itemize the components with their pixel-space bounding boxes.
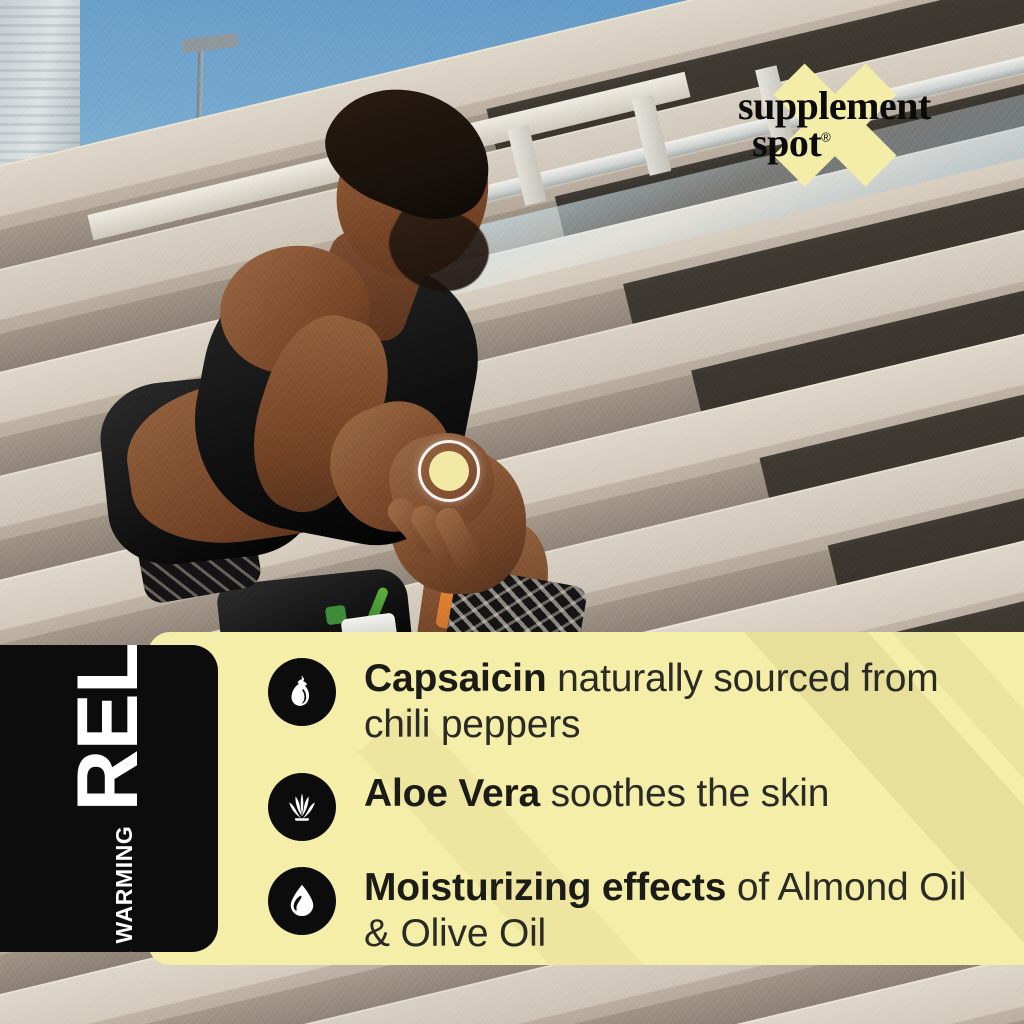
feature-bullet-list: Capsaicin naturally sourced from chili p… xyxy=(268,656,984,957)
callout-kicker: COOLING & WARMING xyxy=(111,825,146,952)
knee-pain-indicator xyxy=(418,440,480,502)
bullet-text: Moisturizing effects of Almond Oil & Oli… xyxy=(364,865,984,956)
oil-droplet-icon xyxy=(268,867,336,935)
athlete-figure xyxy=(70,78,630,668)
bullet-text: Aloe Vera soothes the skin xyxy=(364,771,829,817)
list-item: Aloe Vera soothes the skin xyxy=(268,771,984,841)
list-item: Capsaicin naturally sourced from chili p… xyxy=(268,656,984,747)
list-item: Moisturizing effects of Almond Oil & Oli… xyxy=(268,865,984,956)
relief-callout-panel: COOLING & WARMING from RELIEF xyxy=(0,645,218,952)
callout-headline: RELIEF xyxy=(72,645,146,811)
aloe-vera-icon xyxy=(268,773,336,841)
pain-indicator-dot xyxy=(429,451,469,491)
bullet-rest-text: soothes the skin xyxy=(540,772,829,815)
bullet-strong-text: Capsaicin xyxy=(364,657,546,700)
registered-trademark-icon: ® xyxy=(821,129,830,144)
callout-headline-wrap: from RELIEF xyxy=(72,645,146,811)
chili-pepper-icon xyxy=(268,658,336,726)
brand-logo[interactable]: supplement spot® xyxy=(738,58,968,198)
bullet-text: Capsaicin naturally sourced from chili p… xyxy=(364,656,984,747)
product-marketing-image: supplement spot® Capsaicin naturally sou… xyxy=(0,0,1024,1024)
bullet-strong-text: Aloe Vera xyxy=(364,772,540,815)
brand-logo-line2: spot® xyxy=(738,125,968,162)
vertical-text-stack: COOLING & WARMING from RELIEF xyxy=(72,645,146,952)
bullet-strong-text: Moisturizing effects xyxy=(364,866,726,909)
brand-wordmark: supplement spot® xyxy=(738,88,968,162)
feature-panel: Capsaicin naturally sourced from chili p… xyxy=(148,632,1024,965)
